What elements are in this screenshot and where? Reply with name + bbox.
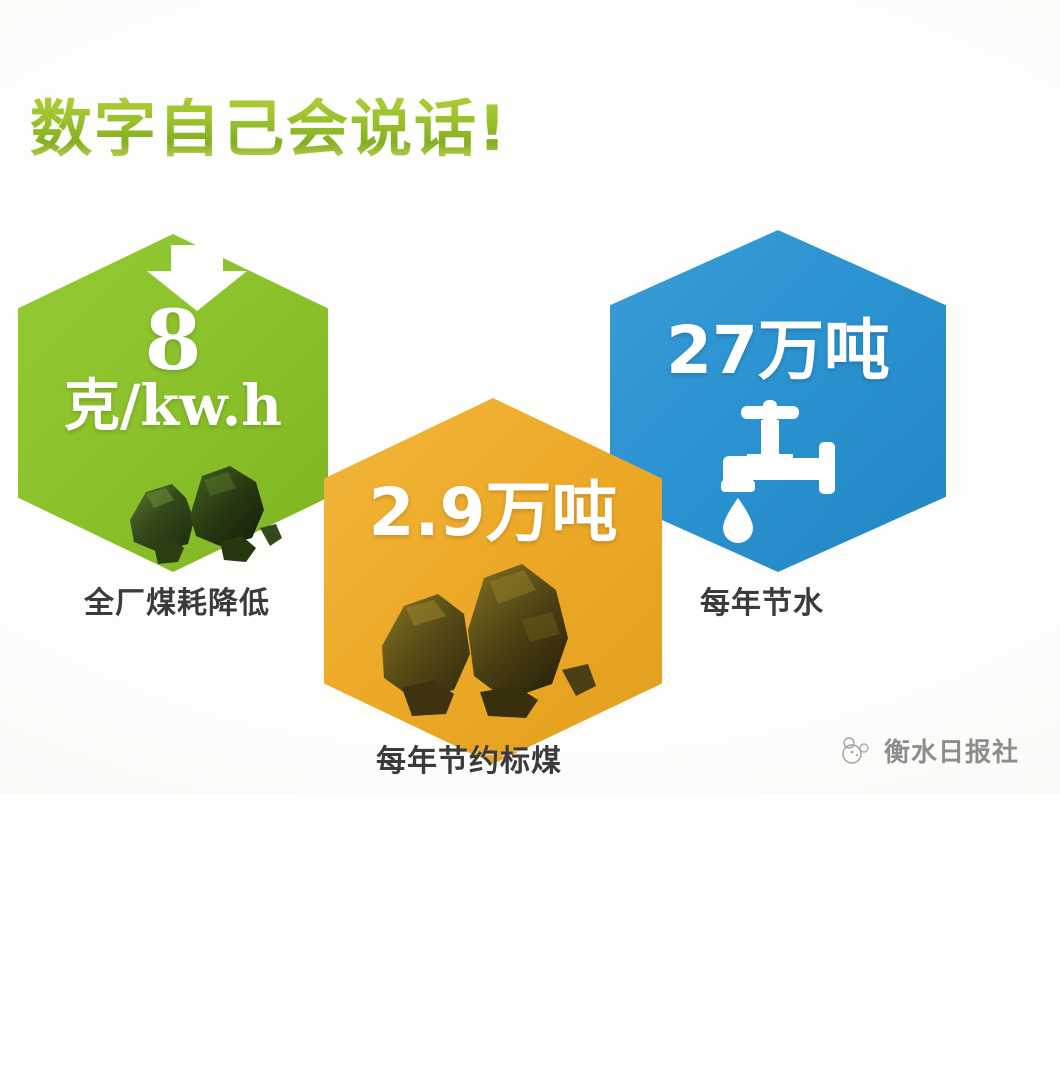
- coal-lumps-illustration-orange: [372, 560, 602, 725]
- poster-canvas: 数字自己会说话! 8 克/kw.h 全厂: [0, 0, 1060, 794]
- hexagon-outline-coal-saved: [0, 704, 350, 1082]
- metric-caption-water-saved: 每年节水: [700, 578, 824, 622]
- watermark-label: 衡水日报社: [884, 732, 1019, 769]
- metric-caption-coal-rate: 全厂煤耗降低: [84, 578, 270, 622]
- circular-logo-icon: [840, 736, 874, 766]
- watermark: 衡水日报社: [840, 732, 1019, 769]
- page-title: 数字自己会说话!: [30, 98, 508, 160]
- metric-caption-coal-saved: 每年节约标煤: [376, 736, 562, 780]
- coal-lumps-illustration-green: [124, 458, 294, 573]
- down-arrow-icon: [143, 245, 251, 313]
- faucet-icon: [707, 398, 847, 546]
